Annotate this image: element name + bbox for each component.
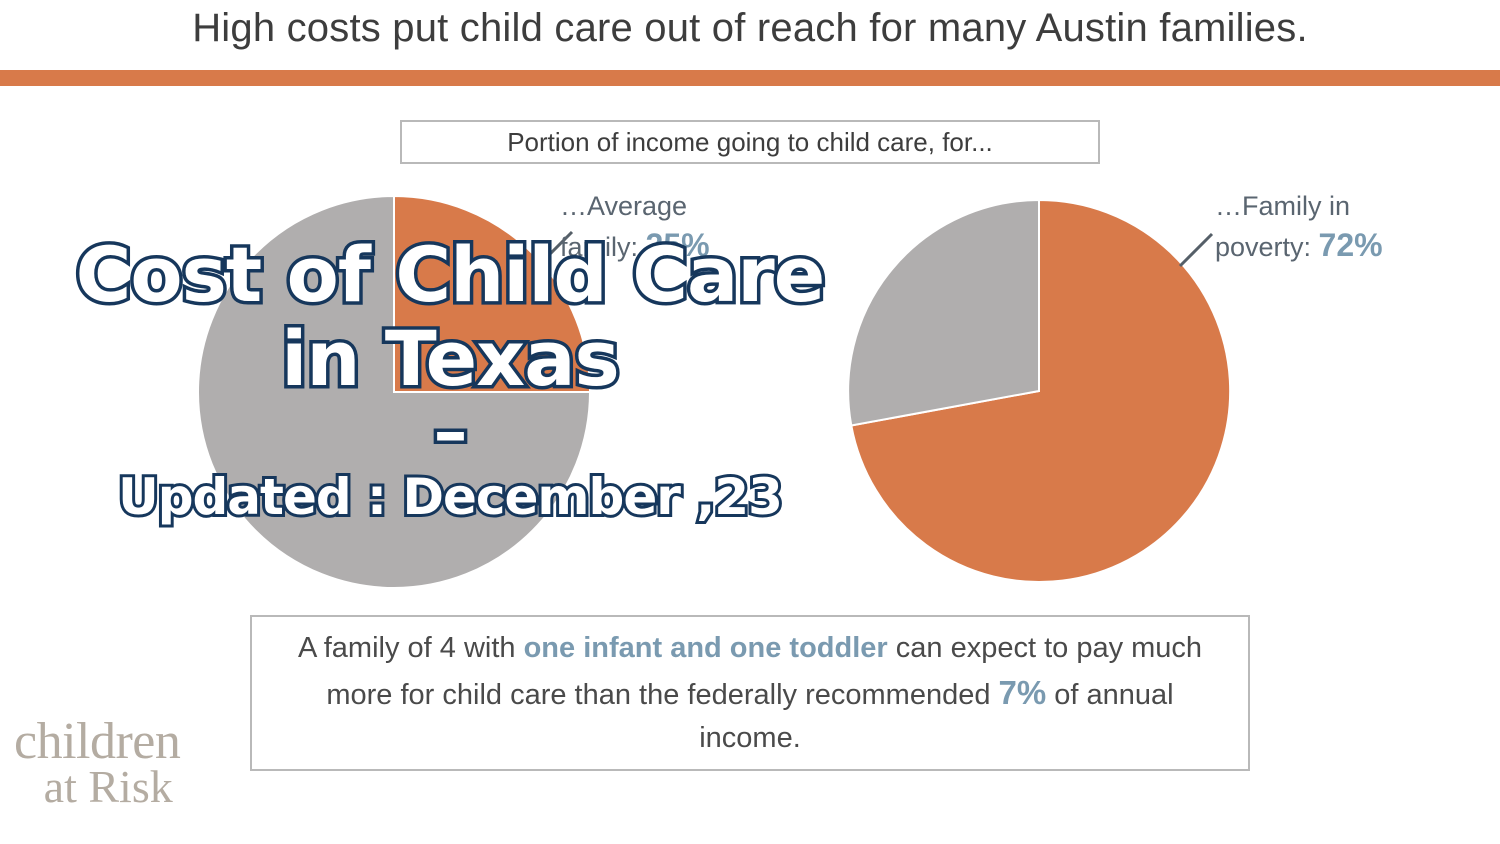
family-in-poverty-pie-svg — [848, 200, 1230, 582]
family-in-poverty-callout-line1: …Family in — [1215, 188, 1383, 224]
logo-line-at-risk: at Risk — [14, 766, 180, 808]
chart-subtitle-box: Portion of income going to child care, f… — [400, 120, 1100, 164]
header-accent-rule — [0, 70, 1500, 86]
average-family-pie-svg — [198, 196, 590, 588]
family-in-poverty-callout: …Family in poverty: 72% — [1215, 188, 1383, 268]
average-family-percent-value: 25% — [646, 227, 710, 263]
average-family-callout-line2: family: 25% — [560, 224, 710, 267]
slide-canvas: High costs put child care out of reach f… — [0, 0, 1500, 844]
children-at-risk-logo: children at Risk — [14, 718, 180, 808]
logo-line-children: children — [14, 718, 180, 766]
pie-slice-remaining-income — [848, 200, 1039, 426]
chart-subtitle-label: Portion of income going to child care, f… — [507, 127, 993, 158]
page-title: High costs put child care out of reach f… — [0, 6, 1500, 51]
caption-text: A family of 4 with one infant and one to… — [252, 627, 1248, 759]
average-family-pie-chart — [198, 196, 590, 588]
family-in-poverty-pie-chart — [848, 200, 1230, 582]
average-family-callout-line1: …Average — [560, 188, 710, 224]
average-family-callout: …Average family: 25% — [560, 188, 710, 268]
caption-box: A family of 4 with one infant and one to… — [250, 615, 1250, 771]
family-in-poverty-percent-value: 72% — [1319, 227, 1383, 263]
caption-part-1: A family of 4 with — [298, 632, 524, 664]
family-in-poverty-callout-line2: poverty: 72% — [1215, 224, 1383, 267]
caption-recommended-percent: 7% — [999, 674, 1047, 711]
family-in-poverty-callout-prefix: poverty: — [1215, 232, 1319, 262]
average-family-callout-prefix: family: — [560, 232, 646, 262]
caption-bold-children: one infant and one toddler — [524, 632, 888, 664]
